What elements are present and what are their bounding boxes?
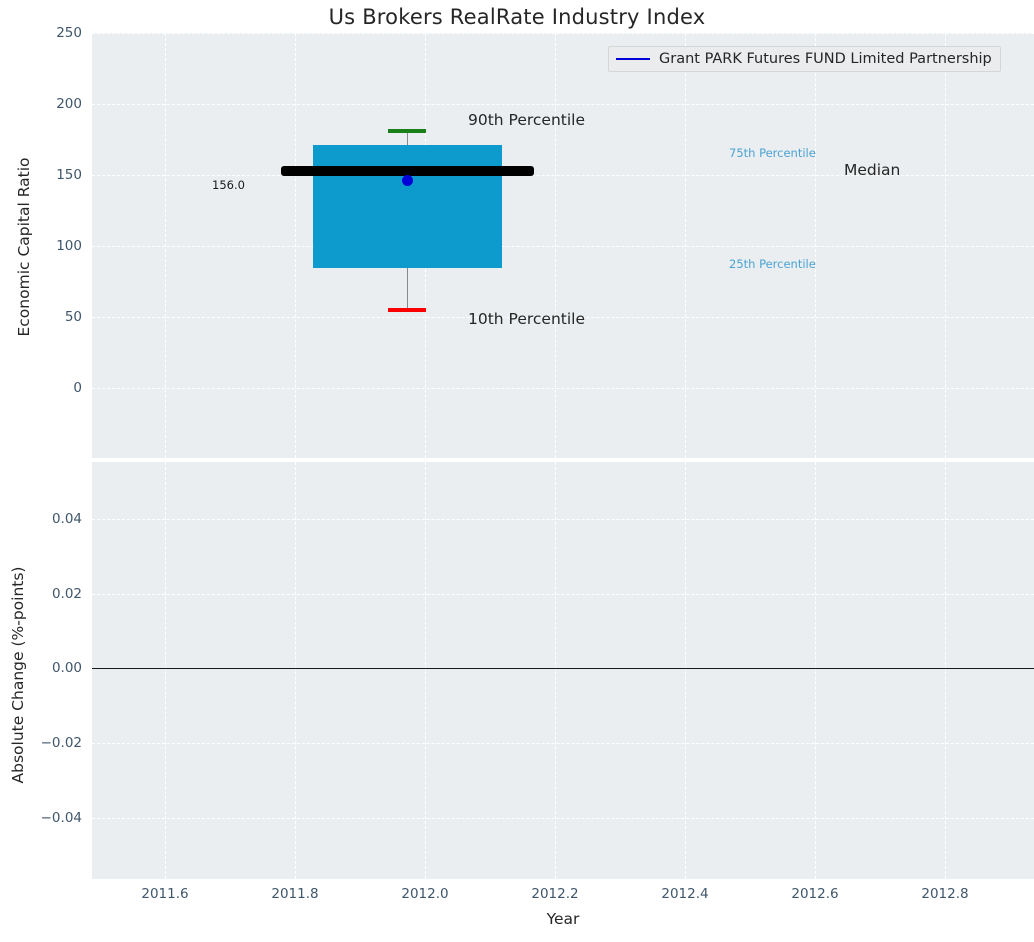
gridline-v	[685, 33, 686, 458]
ytick-label: 50	[0, 309, 82, 325]
annotation-75th-percentile: 75th Percentile	[729, 146, 816, 160]
gridline-v	[295, 33, 296, 458]
gridline-v	[555, 33, 556, 458]
xtick-label: 2012.6	[791, 886, 838, 902]
whisker-cap-10th-icon	[388, 308, 426, 312]
chart-figure: Us Brokers RealRate Industry Index 156.0	[0, 0, 1034, 942]
gridline-h	[92, 104, 1034, 105]
xtick-label: 2011.6	[141, 886, 188, 902]
gridline-h	[92, 33, 1034, 34]
whisker-cap-90th-icon	[388, 129, 426, 133]
xtick-label: 2012.8	[921, 886, 968, 902]
gridline-h	[92, 519, 1034, 520]
gridline-v	[685, 462, 686, 879]
gridline-v	[815, 462, 816, 879]
xtick-label: 2012.2	[531, 886, 578, 902]
box-interquartile-range	[313, 145, 502, 268]
chart-legend[interactable]: Grant PARK Futures FUND Limited Partners…	[608, 46, 1001, 72]
gridline-v	[295, 462, 296, 879]
gridline-v	[815, 33, 816, 458]
gridline-v	[165, 33, 166, 458]
gridline-h	[92, 246, 1034, 247]
xtick-label: 2011.8	[271, 886, 318, 902]
xaxis-label: Year	[92, 910, 1034, 928]
gridline-h	[92, 818, 1034, 819]
annotation-median: Median	[844, 161, 900, 179]
plot-panel-economic-capital-ratio: 156.0 90th Percentile 10th Percentile 75…	[92, 33, 1034, 458]
annotation-10th-percentile: 10th Percentile	[468, 310, 585, 328]
yaxis-label-top: Economic Capital Ratio	[15, 97, 33, 397]
gridline-v	[165, 462, 166, 879]
legend-entry-label: Grant PARK Futures FUND Limited Partners…	[659, 51, 992, 67]
gridline-h	[92, 388, 1034, 389]
yaxis-label-bottom: Absolute Change (%-points)	[9, 485, 27, 865]
xtick-label: 2012.4	[661, 886, 708, 902]
annotation-25th-percentile: 25th Percentile	[729, 257, 816, 271]
chart-title: Us Brokers RealRate Industry Index	[0, 5, 1034, 29]
ytick-label: 250	[0, 25, 82, 41]
ytick-label: 150	[0, 167, 82, 183]
gridline-h	[92, 743, 1034, 744]
series-marker-grant-park[interactable]	[402, 175, 413, 186]
gridline-v	[945, 462, 946, 879]
gridline-h	[92, 594, 1034, 595]
zero-reference-line	[92, 668, 1034, 669]
gridline-v	[555, 462, 556, 879]
ytick-label: 200	[0, 96, 82, 112]
ytick-label: 0	[0, 380, 82, 396]
xtick-label: 2012.0	[401, 886, 448, 902]
annotation-90th-percentile: 90th Percentile	[468, 111, 585, 129]
plot-panel-absolute-change	[92, 462, 1034, 879]
gridline-v	[425, 462, 426, 879]
gridline-v	[945, 33, 946, 458]
median-value-label: 156.0	[212, 178, 245, 192]
legend-line-swatch-icon	[616, 58, 650, 60]
ytick-label: 100	[0, 238, 82, 254]
